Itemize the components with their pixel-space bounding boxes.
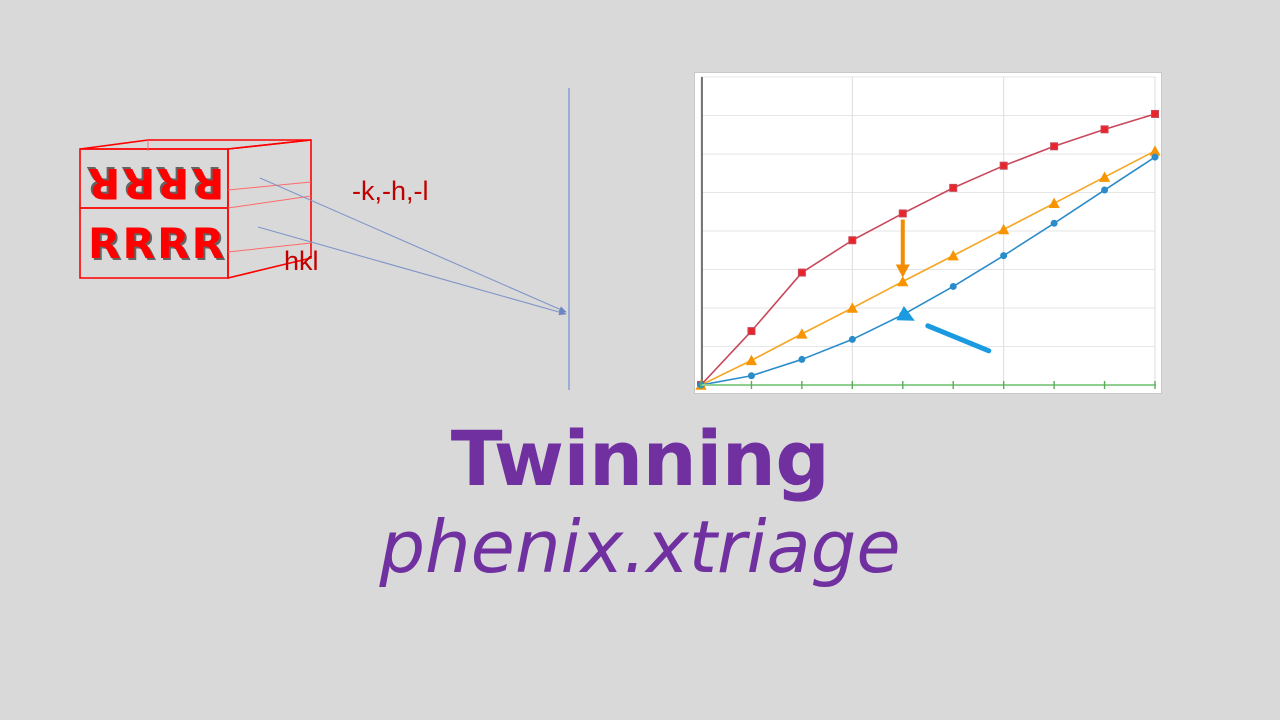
orange-down-arrow	[896, 219, 910, 277]
blue-pointer-arrow	[896, 306, 988, 351]
data-point-circle	[748, 372, 755, 379]
page-subtitle: phenix.xtriage	[0, 506, 1280, 588]
data-point-square	[1051, 143, 1058, 150]
page-title: Twinning	[0, 418, 1280, 500]
data-point-triangle	[796, 328, 807, 338]
box-faint-edge-top	[228, 182, 311, 190]
data-point-circle	[1152, 154, 1159, 161]
chart-series	[695, 110, 1160, 389]
data-point-square	[798, 269, 805, 276]
arrow-head	[896, 306, 918, 328]
chart-graphic	[695, 73, 1161, 393]
box-front-bottom	[80, 208, 228, 278]
box-front-top	[80, 149, 228, 208]
data-point-square	[849, 237, 856, 244]
data-point-circle	[849, 336, 856, 343]
cumulative-intensity-chart	[694, 72, 1162, 394]
data-point-triangle	[1049, 198, 1060, 208]
title-block: Twinning phenix.xtriage	[0, 418, 1280, 588]
data-point-circle	[798, 356, 805, 363]
data-point-square	[1000, 162, 1007, 169]
data-point-triangle	[948, 250, 959, 260]
slide-canvas: R R R R R R R R -k,-h,-l hkl Twinning ph…	[0, 0, 1280, 720]
data-point-circle	[1101, 187, 1108, 194]
data-point-triangle	[1099, 172, 1110, 182]
series-line	[701, 151, 1155, 385]
data-point-circle	[950, 283, 957, 290]
chart-gridlines	[701, 77, 1155, 385]
data-point-square	[950, 184, 957, 191]
series-partially-twinned	[695, 145, 1160, 389]
data-point-square	[899, 210, 906, 217]
series-line	[701, 114, 1155, 385]
label-hkl: hkl	[284, 246, 319, 277]
arrow-head	[896, 265, 910, 278]
crystal-box-graphic	[0, 0, 620, 410]
label-minus-k-minus-h-minus-l: -k,-h,-l	[352, 176, 429, 207]
data-point-circle	[1051, 220, 1058, 227]
twinned-crystal-diagram: R R R R R R R R -k,-h,-l hkl	[0, 0, 620, 410]
data-point-triangle	[746, 355, 757, 365]
data-point-square	[1152, 110, 1159, 117]
chart-annotations	[896, 219, 989, 350]
data-point-circle	[1000, 252, 1007, 259]
arrow-shaft	[928, 326, 989, 351]
crystal-box-wireframe	[80, 140, 311, 278]
data-point-square	[748, 328, 755, 335]
data-point-triangle	[998, 224, 1009, 234]
box-divider-edge	[228, 196, 311, 208]
series-baseline	[701, 381, 1155, 389]
data-point-square	[1101, 126, 1108, 133]
